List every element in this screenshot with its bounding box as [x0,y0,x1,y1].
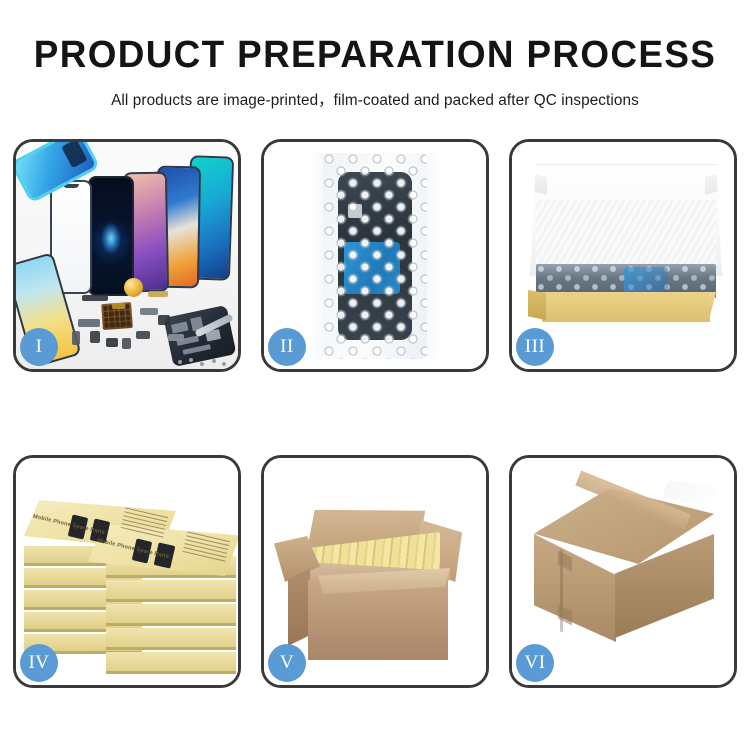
step-badge-6: VI [516,644,554,682]
spare-part-icon [78,319,100,327]
process-step-panel-3: III [509,139,737,372]
spare-part-icon [72,331,80,345]
wrap-edge-right [427,153,441,359]
box-base-side [528,290,546,320]
spare-part-icon [82,295,108,301]
bubble-outlines [323,153,427,359]
spare-part-icon [90,331,100,343]
step-badge-3: III [516,328,554,366]
box-base-front [542,292,710,322]
process-step-panel-5: V [261,455,489,688]
process-step-panel-4: Mobile Phone Spare Parts Mobile Phone Sp… [13,455,241,688]
spare-part-icon [136,331,150,339]
page-subtitle: All products are image-printed，film-coat… [0,88,750,110]
spare-part-icon [106,338,118,347]
stacked-box [106,604,236,626]
spare-part-icon [112,303,125,309]
spare-part-icon [158,315,170,325]
spare-part-icon [168,334,184,341]
wrap-edge-left [309,153,323,359]
stacked-box [106,580,236,602]
spare-part-icon [140,308,158,315]
box-stack: Mobile Phone Spare Parts Mobile Phone Sp… [22,472,238,678]
carton-side-panel [288,568,310,646]
page-title: PRODUCT PREPARATION PROCESS [11,34,739,77]
product-preparation-process-infographic: PRODUCT PREPARATION PROCESS All products… [0,0,750,750]
stacked-box [106,652,236,674]
gold-component-icon [124,278,143,297]
step-badge-5: V [268,644,306,682]
process-step-panel-2: II [261,139,489,372]
foam-liner [536,200,716,274]
process-steps-grid: I II [13,139,737,688]
step-badge-4: IV [20,644,58,682]
phone-jellyfish-screen-icon [88,176,134,296]
spare-part-icon [148,291,168,297]
step-badge-2: II [268,328,306,366]
bubble-wrap-sheet [323,153,427,359]
process-step-panel-1: I [13,139,241,372]
carton-highlight [662,480,720,506]
process-step-panel-6: VI [509,455,737,688]
spare-part-icon [122,338,131,349]
stacked-box [106,628,236,650]
screws-icon [176,357,228,367]
step-badge-1: I [20,328,58,366]
header: PRODUCT PREPARATION PROCESS All products… [0,0,750,110]
